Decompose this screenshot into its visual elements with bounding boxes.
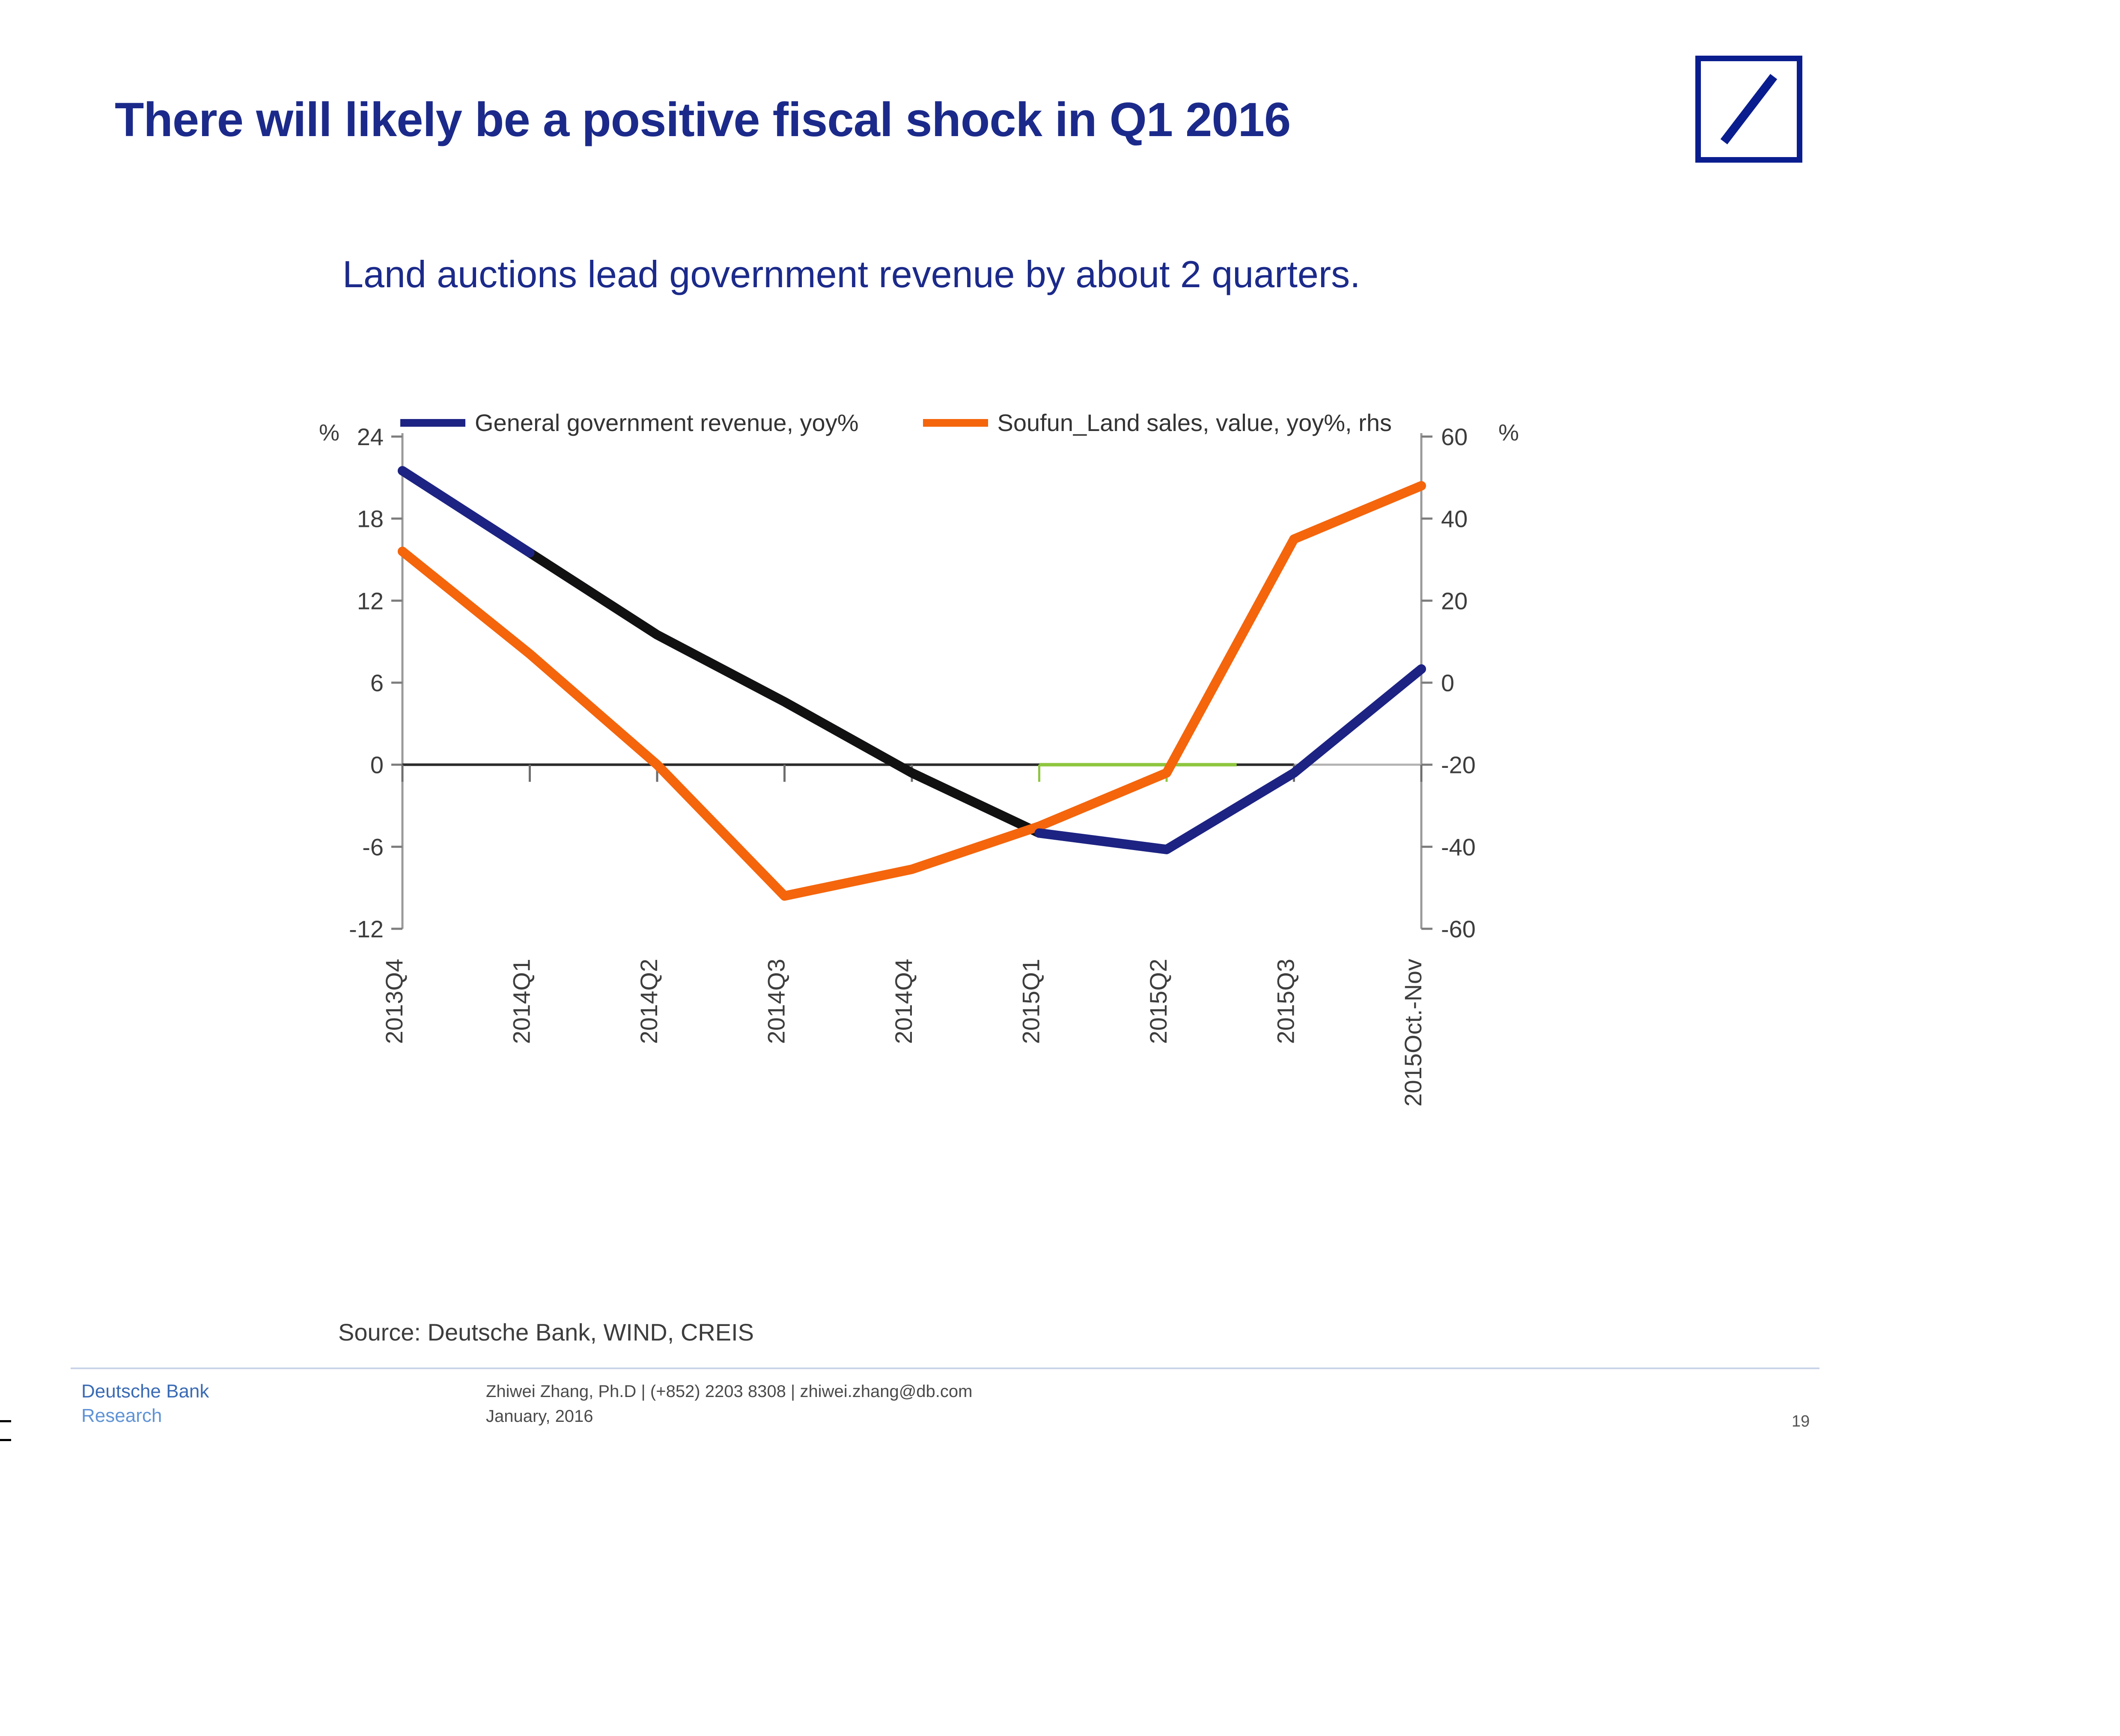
right-tick-label: 60 bbox=[1441, 423, 1468, 450]
footer-author-date: January, 2016 bbox=[486, 1404, 972, 1429]
series-line-land-sales-top bbox=[402, 486, 1421, 896]
left-tick-label: -12 bbox=[349, 916, 384, 942]
right-tick-label: -40 bbox=[1441, 833, 1476, 860]
chart-canvas: 24181260-6-126040200-20-40-602013Q42014Q… bbox=[291, 385, 1533, 1348]
series-line-land-sales bbox=[402, 486, 1421, 896]
category-label: 2015Oct.-Nov bbox=[1399, 959, 1426, 1107]
category-label: 2014Q2 bbox=[635, 959, 662, 1044]
category-label: 2015Q3 bbox=[1272, 959, 1299, 1044]
right-tick-label: 40 bbox=[1441, 505, 1468, 532]
deutsche-bank-logo bbox=[1695, 56, 1802, 163]
category-label: 2013Q4 bbox=[381, 959, 408, 1044]
footer-brand-line1: Deutsche Bank bbox=[81, 1379, 209, 1403]
left-tick-label: 18 bbox=[357, 505, 384, 532]
line-chart: 24181260-6-126040200-20-40-602013Q42014Q… bbox=[291, 385, 1533, 1348]
left-tick-label: 0 bbox=[370, 752, 384, 779]
footer-author-contact: Zhiwei Zhang, Ph.D | (+852) 2203 8308 | … bbox=[486, 1379, 972, 1404]
series-line-government-revenue-dark-overlay bbox=[530, 553, 1039, 833]
category-label: 2015Q1 bbox=[1018, 959, 1045, 1044]
category-label: 2015Q2 bbox=[1145, 959, 1172, 1044]
page-subtitle: Land auctions lead government revenue by… bbox=[342, 253, 1361, 296]
right-tick-label: 0 bbox=[1441, 669, 1454, 696]
right-tick-label: -20 bbox=[1441, 752, 1476, 779]
series-line-government-revenue-tail bbox=[1039, 669, 1422, 850]
category-label: 2014Q4 bbox=[890, 959, 917, 1044]
footer-brand: Deutsche Bank Research bbox=[81, 1379, 209, 1428]
slide: There will likely be a positive fiscal s… bbox=[0, 0, 2120, 1736]
left-tick-label: -6 bbox=[362, 833, 384, 860]
page-title: There will likely be a positive fiscal s… bbox=[115, 92, 1290, 147]
chart-source: Source: Deutsche Bank, WIND, CREIS bbox=[338, 1318, 754, 1346]
left-tick-label: 12 bbox=[357, 587, 384, 614]
left-edge-mark-1 bbox=[0, 1420, 11, 1422]
right-tick-label: -60 bbox=[1441, 916, 1476, 942]
left-tick-label: 24 bbox=[357, 423, 384, 450]
page-number: 19 bbox=[1792, 1412, 1810, 1431]
series-line-government-revenue-head bbox=[402, 471, 530, 553]
category-label: 2014Q1 bbox=[508, 959, 535, 1044]
right-tick-label: 20 bbox=[1441, 587, 1468, 614]
left-tick-label: 6 bbox=[370, 669, 384, 696]
left-edge-mark-2 bbox=[0, 1439, 11, 1441]
footer-divider bbox=[71, 1367, 1819, 1369]
category-label: 2014Q3 bbox=[763, 959, 790, 1044]
footer-author: Zhiwei Zhang, Ph.D | (+852) 2203 8308 | … bbox=[486, 1379, 972, 1429]
footer-brand-line2: Research bbox=[81, 1403, 209, 1428]
